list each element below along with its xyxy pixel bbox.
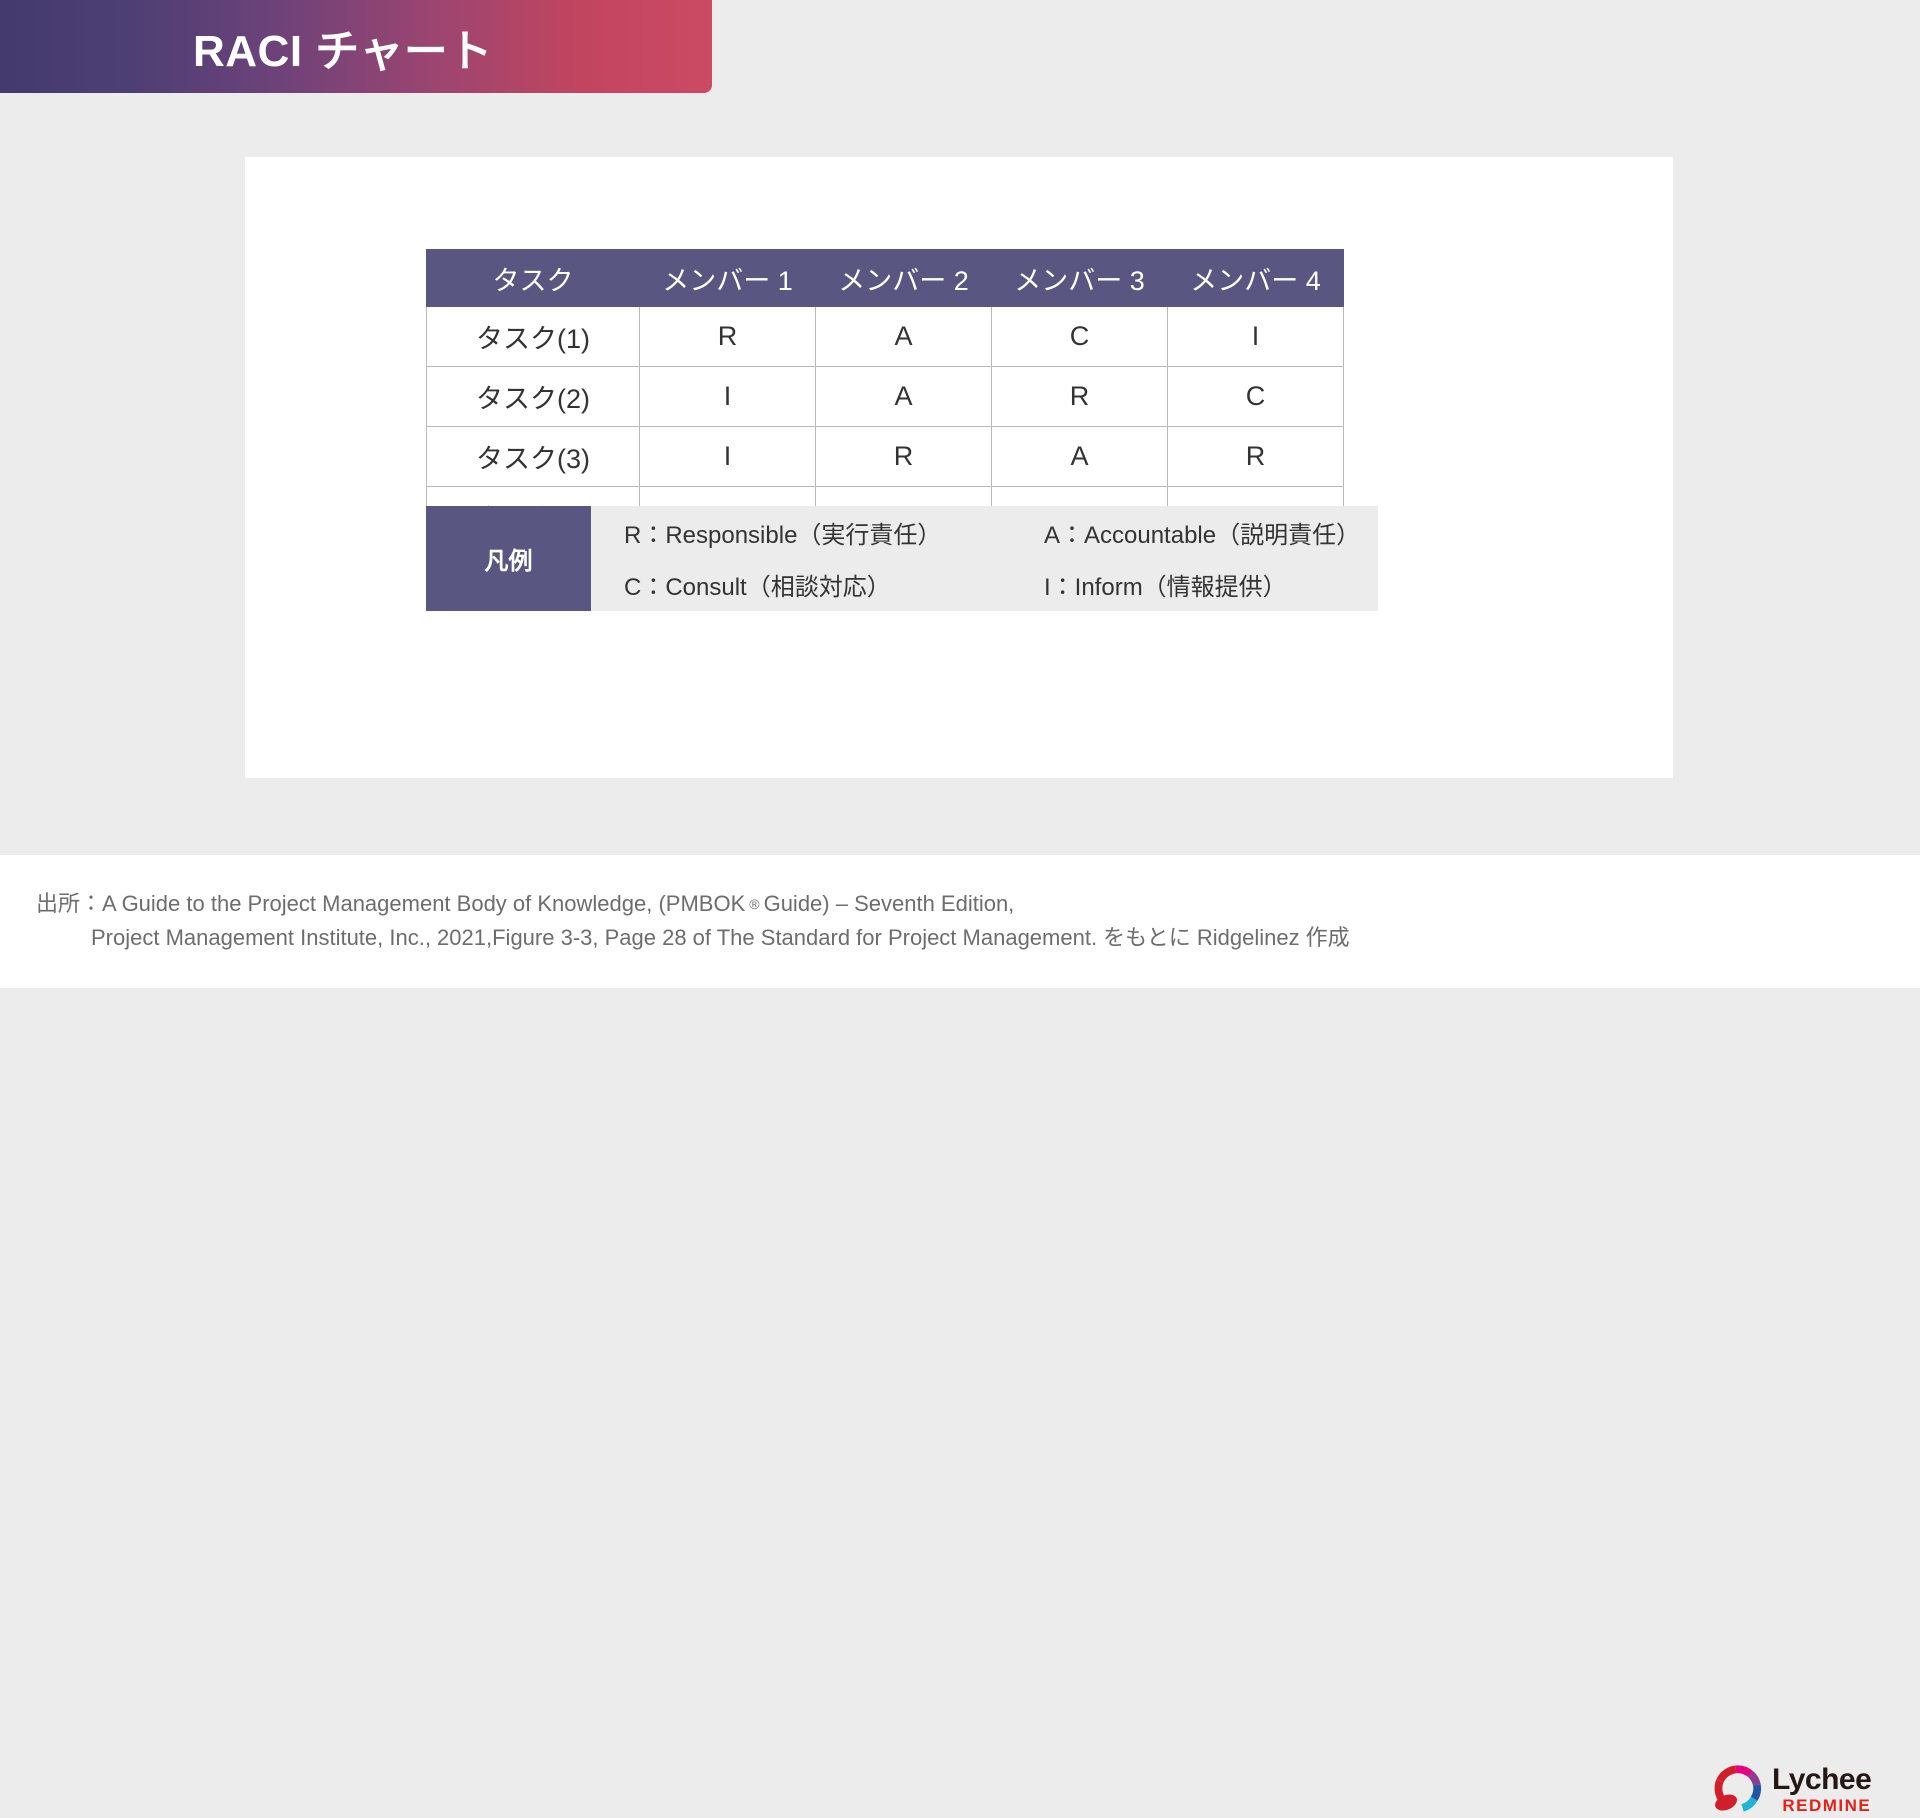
registered-trademark-icon: ® <box>745 896 763 912</box>
content-card: タスク メンバー 1 メンバー 2 メンバー 3 メンバー 4 タスク(1) R… <box>245 157 1673 778</box>
column-header-member-3: メンバー 3 <box>992 250 1168 307</box>
source-line-1: 出所：A Guide to the Project Management Bod… <box>36 887 1350 921</box>
lychee-ring-icon <box>1712 1763 1764 1815</box>
page-title: RACI チャート <box>193 15 493 79</box>
cell-r3c2: R <box>816 427 992 487</box>
logo-wordmark: Lychee REDMINE <box>1772 1765 1871 1814</box>
legend-entry-accountable: A：Accountable（説明責任） <box>1044 515 1378 550</box>
legend-entry-responsible: R：Responsible（実行責任） <box>624 515 1044 550</box>
task-label-1: タスク(1) <box>427 307 640 367</box>
cell-r2c4: C <box>1168 367 1344 427</box>
table-row: タスク(3) I R A R <box>427 427 1344 487</box>
cell-r2c1: I <box>640 367 816 427</box>
column-header-member-2: メンバー 2 <box>816 250 992 307</box>
legend-items: R：Responsible（実行責任） A：Accountable（説明責任） … <box>591 506 1378 611</box>
raci-table-head: タスク メンバー 1 メンバー 2 メンバー 3 メンバー 4 <box>427 250 1344 307</box>
logo-word-lychee: Lychee <box>1772 1765 1871 1795</box>
source-line-2: Project Management Institute, Inc., 2021… <box>36 921 1350 955</box>
table-header-row: タスク メンバー 1 メンバー 2 メンバー 3 メンバー 4 <box>427 250 1344 307</box>
source-line-1-text-a: 出所：A Guide to the Project Management Bod… <box>36 891 745 916</box>
task-label-2: タスク(2) <box>427 367 640 427</box>
source-note: 出所：A Guide to the Project Management Bod… <box>36 887 1350 955</box>
title-banner: RACI チャート <box>0 0 712 93</box>
table-row: タスク(1) R A C I <box>427 307 1344 367</box>
cell-r3c3: A <box>992 427 1168 487</box>
cell-r2c3: R <box>992 367 1168 427</box>
slide-body: タスク メンバー 1 メンバー 2 メンバー 3 メンバー 4 タスク(1) R… <box>0 93 1920 855</box>
table-row: タスク(2) I A R C <box>427 367 1344 427</box>
column-header-member-1: メンバー 1 <box>640 250 816 307</box>
cell-r3c4: R <box>1168 427 1344 487</box>
logo-word-redmine: REDMINE <box>1772 1797 1871 1814</box>
cell-r1c1: R <box>640 307 816 367</box>
legend-label: 凡例 <box>426 506 591 611</box>
cell-r1c3: C <box>992 307 1168 367</box>
source-line-1-text-b: Guide) – Seventh Edition, <box>764 891 1015 916</box>
lychee-redmine-logo: Lychee REDMINE <box>1712 1760 1887 1818</box>
legend-entry-inform: I：Inform（情報提供） <box>1044 567 1378 602</box>
task-label-3: タスク(3) <box>427 427 640 487</box>
column-header-task: タスク <box>427 250 640 307</box>
raci-table: タスク メンバー 1 メンバー 2 メンバー 3 メンバー 4 タスク(1) R… <box>426 249 1344 547</box>
cell-r1c4: I <box>1168 307 1344 367</box>
legend-box: 凡例 R：Responsible（実行責任） A：Accountable（説明責… <box>426 506 1378 611</box>
column-header-member-4: メンバー 4 <box>1168 250 1344 307</box>
footer: 出所：A Guide to the Project Management Bod… <box>0 855 1920 988</box>
cell-r1c2: A <box>816 307 992 367</box>
cell-r2c2: A <box>816 367 992 427</box>
cell-r3c1: I <box>640 427 816 487</box>
legend-entry-consult: C：Consult（相談対応） <box>624 567 1044 602</box>
